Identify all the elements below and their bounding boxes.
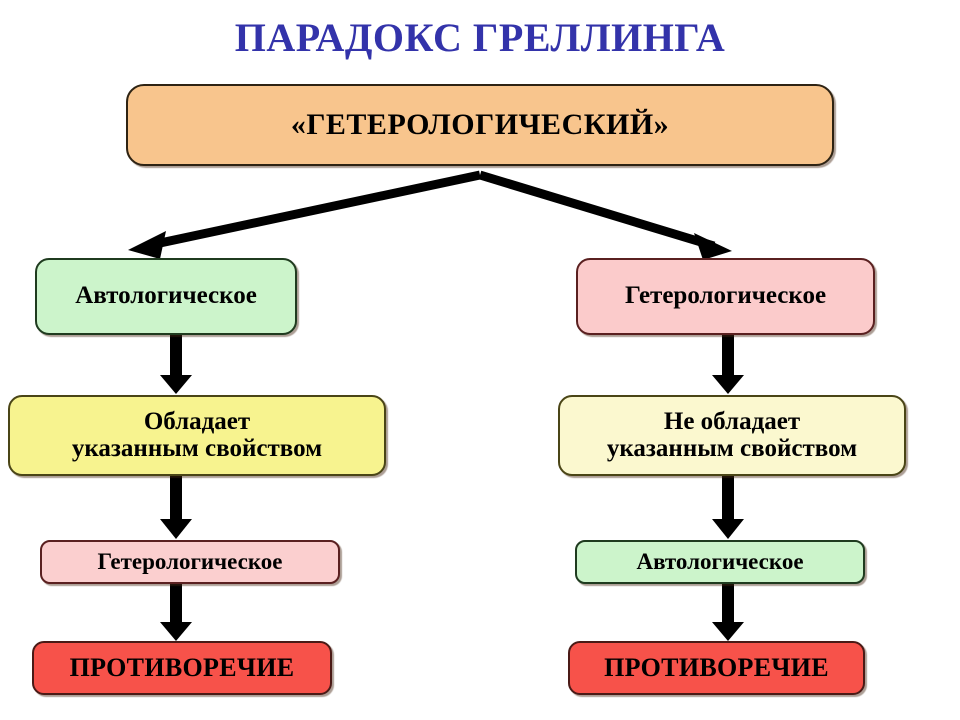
node-right-lacks-property-line2: указанным свойством xyxy=(607,435,857,462)
node-right-heterological-label: Гетерологическое xyxy=(619,283,832,310)
node-left-has-property-line2: указанным свойством xyxy=(72,435,322,462)
left-row4-to-row5-arrow xyxy=(160,584,192,641)
page-title: ПАРАДОКС ГРЕЛЛИНГА xyxy=(0,14,960,61)
right-row4-to-row5-arrow xyxy=(712,584,744,641)
right-row3-to-row4-arrow xyxy=(712,476,744,539)
left-row3-to-row4-arrow xyxy=(160,476,192,539)
diagram-canvas: ПАРАДОКС ГРЕЛЛИНГА xyxy=(0,0,960,720)
node-left-result-heterological-label: Гетерологическое xyxy=(91,550,288,575)
node-left-contradiction[interactable]: ПРОТИВОРЕЧИЕ xyxy=(32,641,332,695)
node-left-has-property[interactable]: Обладает указанным свойством xyxy=(8,395,386,476)
node-left-result-heterological[interactable]: Гетерологическое xyxy=(40,540,340,584)
node-right-lacks-property-label: Не обладает указанным свойством xyxy=(601,409,863,463)
node-right-result-autological-label: Автологическое xyxy=(630,550,809,575)
node-right-result-autological[interactable]: Автологическое xyxy=(575,540,865,584)
node-left-autological-label: Автологическое xyxy=(69,283,263,310)
left-row2-to-row3-arrow xyxy=(160,335,192,394)
root-to-right-branch-arrow xyxy=(480,175,732,260)
root-to-left-branch-arrow xyxy=(128,175,480,259)
node-right-contradiction[interactable]: ПРОТИВОРЕЧИЕ xyxy=(568,641,865,695)
node-left-has-property-line1: Обладает xyxy=(144,408,250,435)
node-root-heterological[interactable]: «ГЕТЕРОЛОГИЧЕСКИЙ» xyxy=(126,84,834,166)
node-left-autological[interactable]: Автологическое xyxy=(35,258,297,335)
node-right-lacks-property-line1: Не обладает xyxy=(664,408,800,435)
node-left-contradiction-label: ПРОТИВОРЕЧИЕ xyxy=(64,654,301,682)
node-right-lacks-property[interactable]: Не обладает указанным свойством xyxy=(558,395,906,476)
node-left-has-property-label: Обладает указанным свойством xyxy=(66,409,328,463)
node-right-heterological[interactable]: Гетерологическое xyxy=(576,258,875,335)
node-right-contradiction-label: ПРОТИВОРЕЧИЕ xyxy=(598,654,835,682)
node-root-label: «ГЕТЕРОЛОГИЧЕСКИЙ» xyxy=(285,109,675,141)
right-row2-to-row3-arrow xyxy=(712,335,744,394)
